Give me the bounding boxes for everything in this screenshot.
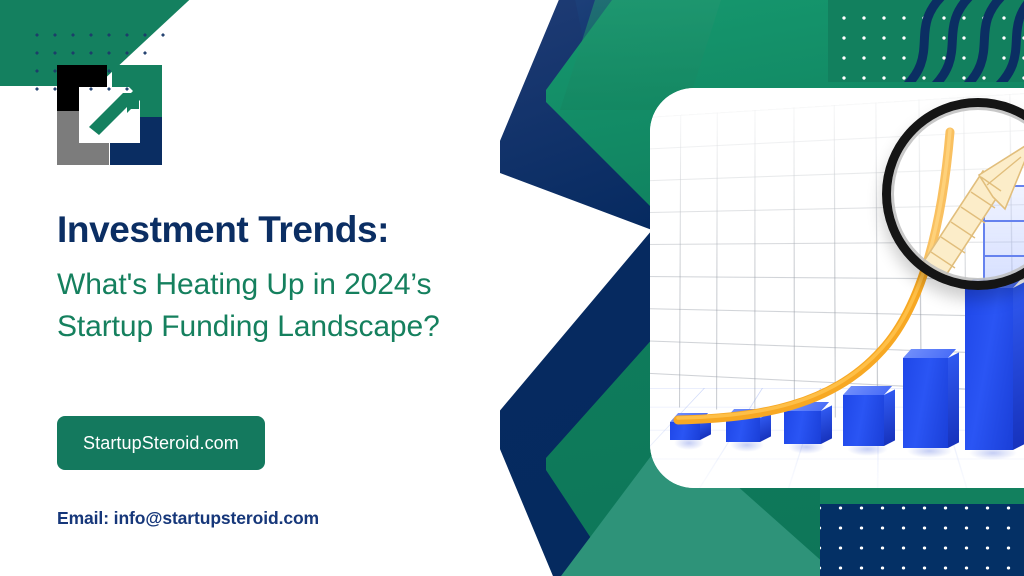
artwork-panel [500, 0, 1024, 576]
chart-bar [670, 422, 700, 440]
chart-card [650, 88, 1024, 488]
logo-corner-bottom-right-bar [110, 143, 162, 165]
chart-bar-side [1013, 282, 1024, 450]
logo-arrow-icon [87, 83, 149, 145]
chart-bar-side [948, 352, 959, 448]
chart-bar [843, 395, 884, 446]
chart-bar-face [670, 422, 700, 440]
chart-bar [903, 358, 948, 448]
startupsteroid-logo[interactable] [57, 65, 162, 165]
chart-bar [784, 411, 821, 444]
contact-email: Email: info@startupsteroid.com [57, 508, 319, 529]
decor-scribble-lines [848, 0, 1024, 82]
subtitle-line-1: What's Heating Up in 2024’s [57, 264, 527, 307]
chart-bar-face [965, 288, 1013, 450]
magnifying-glass-icon [882, 98, 1024, 290]
chart-bar-face [903, 358, 948, 448]
chart-bar-face [784, 411, 821, 444]
page-subtitle: What's Heating Up in 2024’s Startup Fund… [57, 264, 527, 349]
subtitle-line-2: Startup Funding Landscape? [57, 306, 527, 349]
chart-bar [965, 288, 1013, 450]
chart-bar-face [843, 395, 884, 446]
chart-bar-top [843, 386, 892, 395]
chart-bar-top [903, 349, 956, 358]
logo-corner-bottom-left-bar [57, 143, 109, 165]
chart-bar-side [884, 389, 895, 446]
chart-scene [650, 88, 1024, 488]
page-title: Investment Trends: [57, 210, 527, 251]
chart-bar-side [821, 405, 832, 444]
website-cta-button[interactable]: StartupSteroid.com [57, 416, 265, 470]
chart-bar-side [760, 412, 771, 442]
decor-bottom-right-navy-block [820, 504, 1024, 576]
decor-top-right-green-block [828, 0, 1024, 82]
decor-bottom-right-dot-grid [820, 504, 1024, 576]
text-block: Investment Trends: What's Heating Up in … [57, 210, 527, 349]
chart-bar [726, 418, 760, 442]
decor-bottom-right-green-strip [820, 488, 1024, 504]
chart-bar-top [784, 402, 829, 411]
chart-bar-face [726, 418, 760, 442]
banner-canvas: Investment Trends: What's Heating Up in … [0, 0, 1024, 576]
